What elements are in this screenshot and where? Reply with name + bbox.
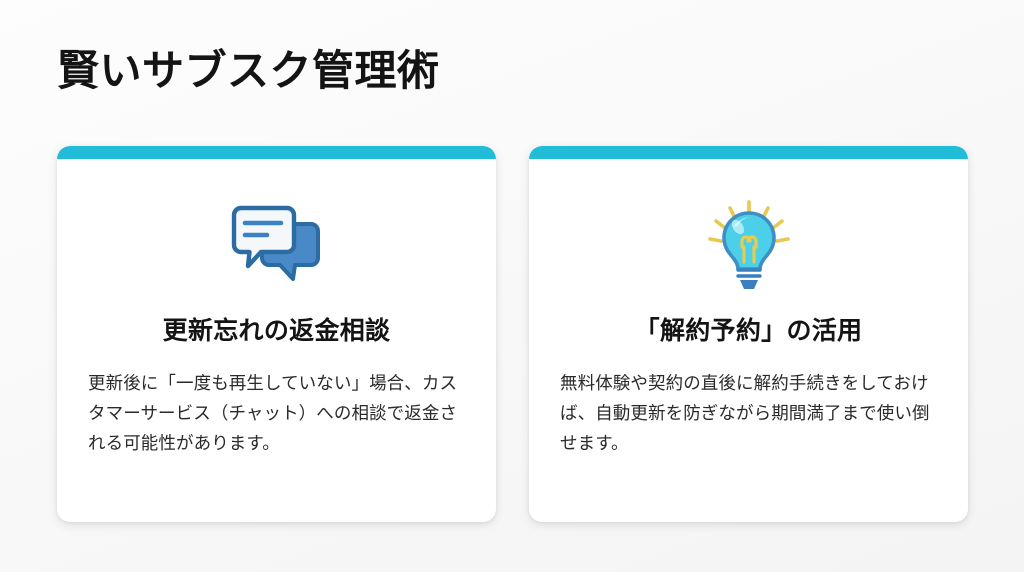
card-title: 「解約予約」の活用 <box>529 311 968 347</box>
slide-canvas: 賢いサブスク管理術 更新忘れの返金相談 更新後に「一度も再生していない」場合、カ… <box>0 0 1024 572</box>
card-grid: 更新忘れの返金相談 更新後に「一度も再生していない」場合、カスタマーサービス（チ… <box>57 146 968 522</box>
card-accent-bar <box>57 146 496 159</box>
chat-bubbles-icon <box>57 198 496 294</box>
tip-card-refund[interactable]: 更新忘れの返金相談 更新後に「一度も再生していない」場合、カスタマーサービス（チ… <box>57 146 496 522</box>
card-title: 更新忘れの返金相談 <box>57 311 496 347</box>
card-body-text: 無料体験や契約の直後に解約手続きをしておけば、自動更新を防ぎながら期間満了まで使… <box>560 368 940 458</box>
card-body-text: 更新後に「一度も再生していない」場合、カスタマーサービス（チャット）への相談で返… <box>88 368 468 458</box>
card-accent-bar <box>529 146 968 159</box>
lightbulb-idea-icon <box>529 198 968 294</box>
page-title: 賢いサブスク管理術 <box>57 48 440 94</box>
tip-card-cancel-reservation[interactable]: 「解約予約」の活用 無料体験や契約の直後に解約手続きをしておけば、自動更新を防ぎ… <box>529 146 968 522</box>
